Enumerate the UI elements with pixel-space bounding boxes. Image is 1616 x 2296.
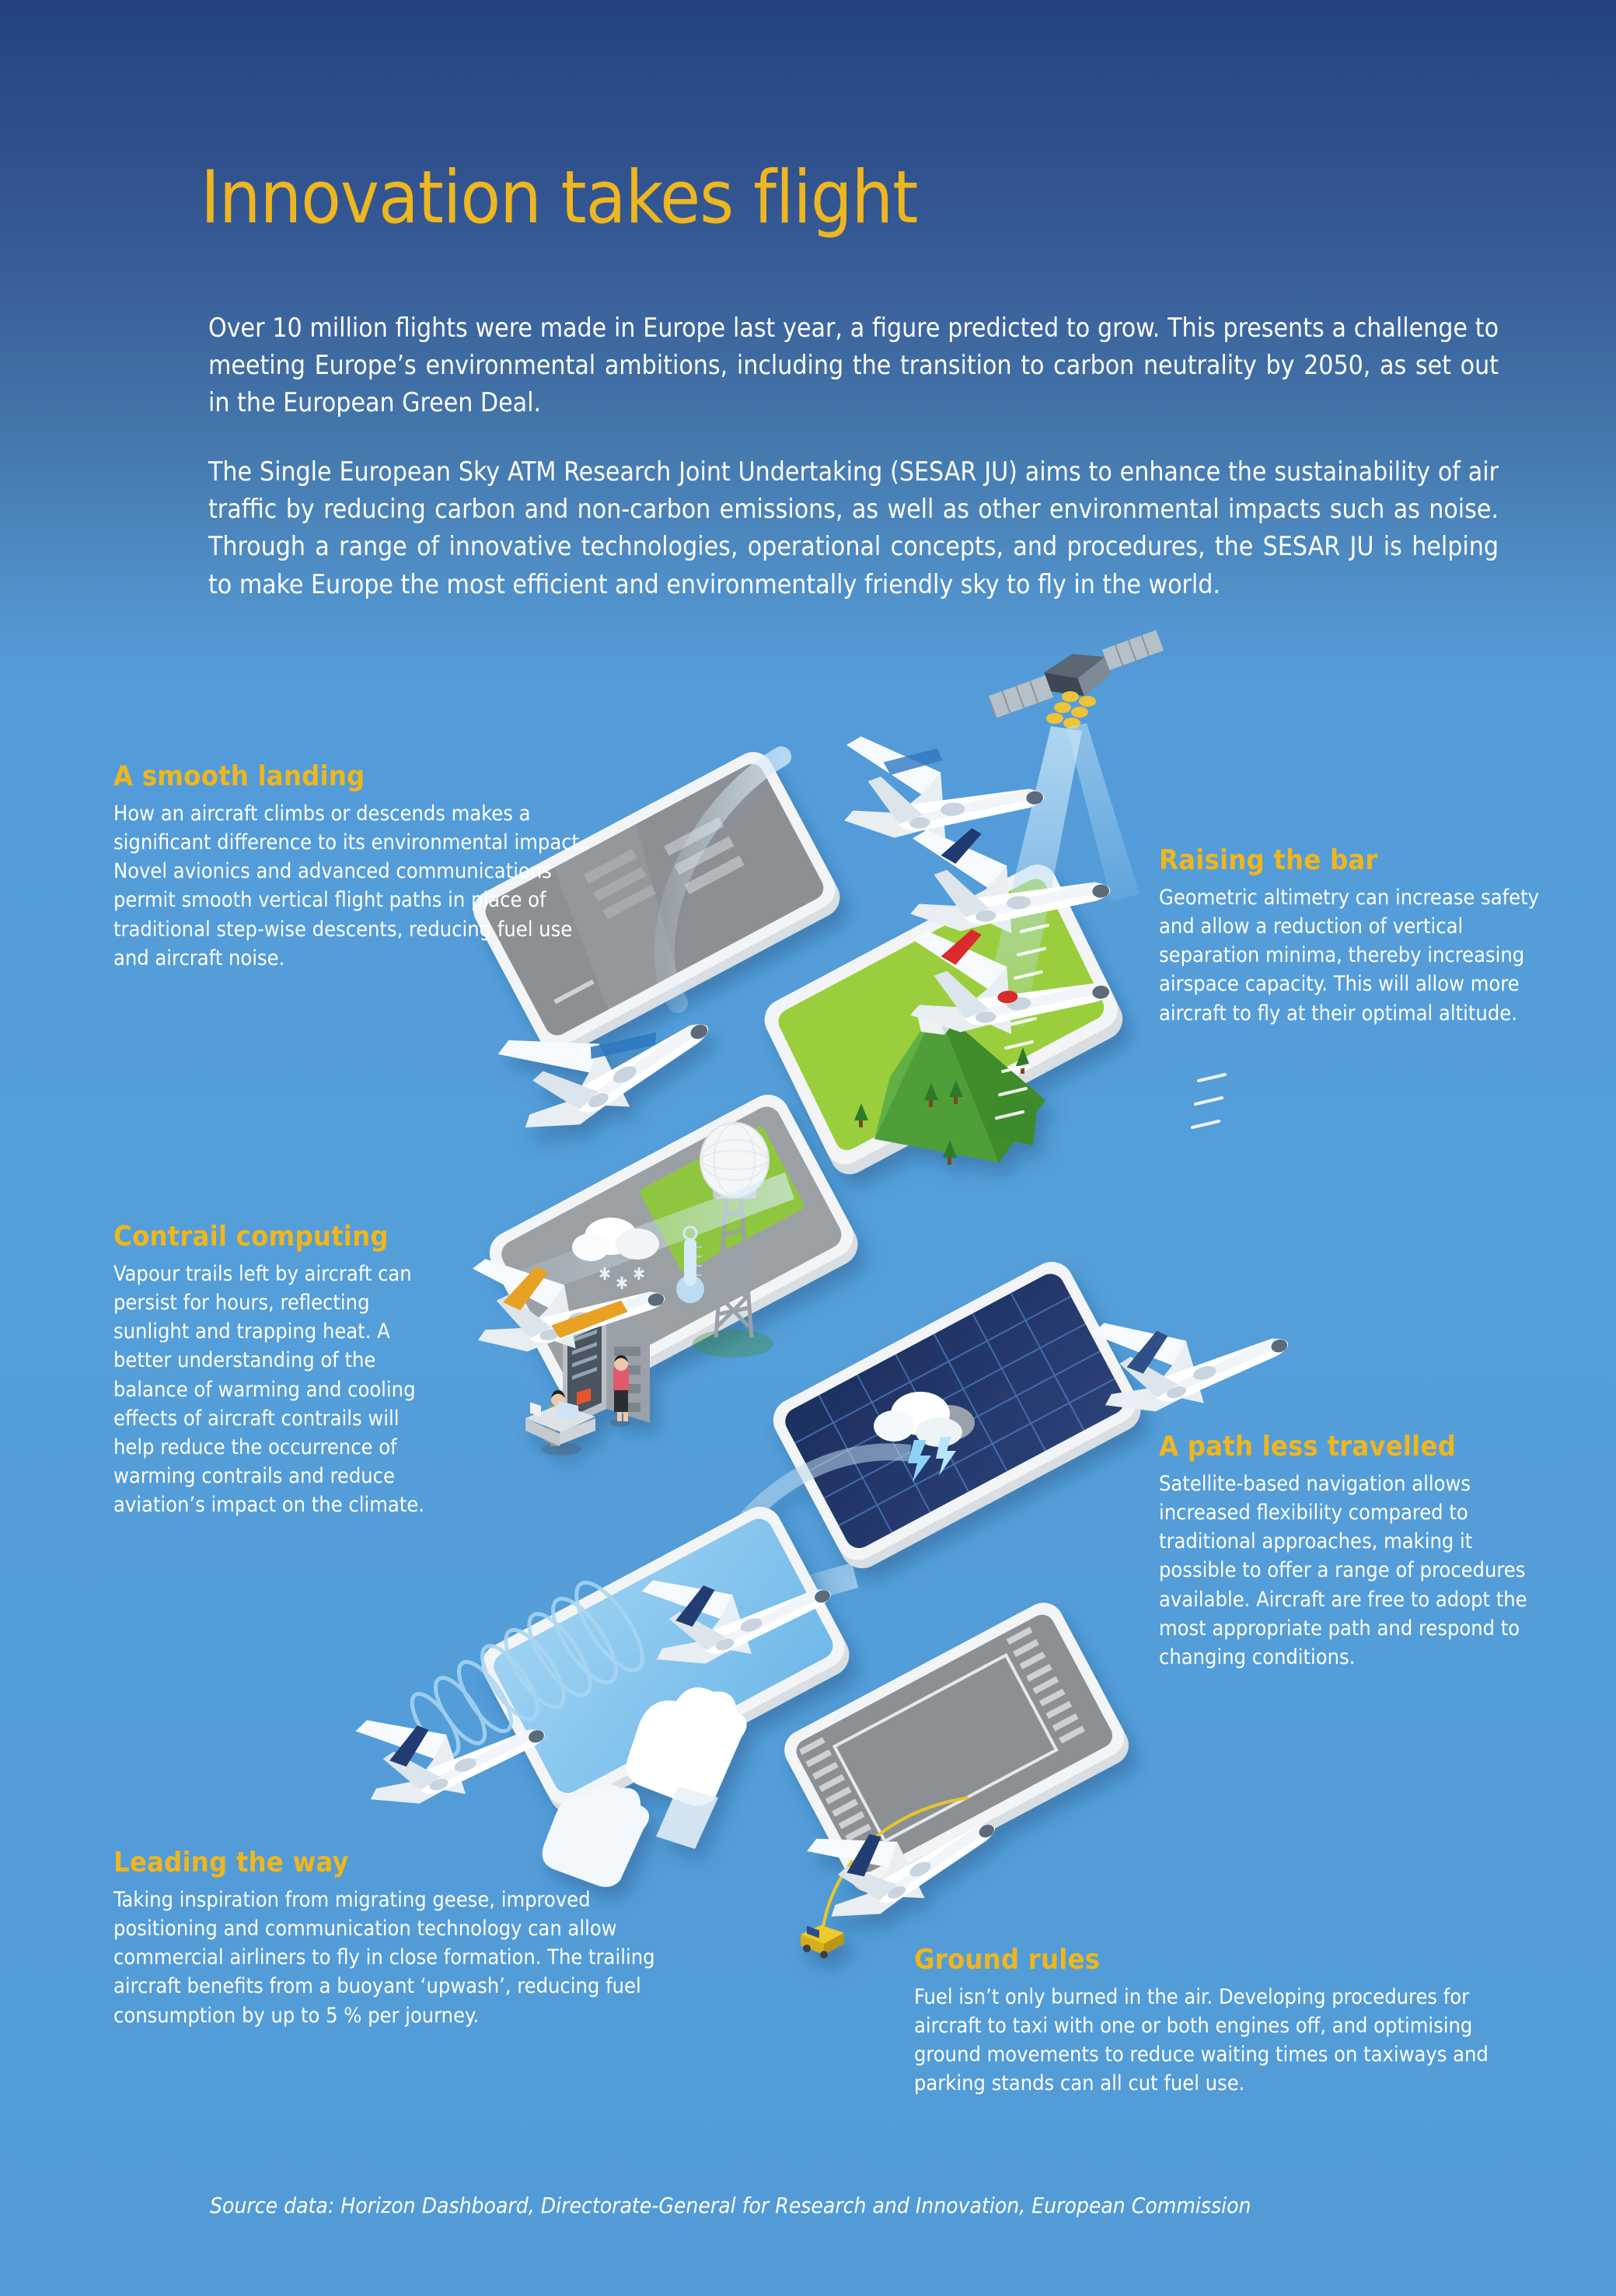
airplane-icon-red xyxy=(905,918,1113,1041)
route-beam xyxy=(785,1563,858,1606)
section-heading-raising-the-bar: Raising the bar xyxy=(1159,844,1548,876)
section-body-raising-the-bar: Geometric altimetry can increase safety … xyxy=(1159,883,1548,1028)
data-centre-platform xyxy=(482,1087,865,1456)
satellite-beam xyxy=(981,726,1082,1028)
source-note: Source data: Horizon Dashboard, Director… xyxy=(210,2193,1251,2218)
flexible-route-path xyxy=(719,1452,910,1559)
airplane-icon-path-less xyxy=(1084,1276,1297,1429)
intro-paragraph-1: Over 10 million flights were made in Eur… xyxy=(208,309,1499,422)
solar-panel-platform xyxy=(719,1254,1148,1576)
airplane-icon-blue xyxy=(839,724,1047,847)
contrail-beam xyxy=(522,1172,794,1297)
smooth-flight-path xyxy=(665,757,781,1003)
intro-paragraph-2: The Single European Sky ATM Research Joi… xyxy=(208,453,1499,603)
page-title: Innovation takes flight xyxy=(201,162,917,235)
vortex-spiral-icon xyxy=(403,1573,654,1762)
apron-platform xyxy=(777,1595,1136,1959)
section-raising-the-bar: Raising the bar Geometric altimetry can … xyxy=(1159,844,1548,1028)
section-body-contrail-computing: Vapour trails left by aircraft can persi… xyxy=(113,1260,440,1519)
technician-standing xyxy=(610,1355,630,1427)
satellite-dish-array xyxy=(1046,691,1096,729)
tow-tug-icon xyxy=(801,1925,844,1959)
section-heading-smooth-landing: A smooth landing xyxy=(113,760,611,792)
section-body-smooth-landing: How an aircraft climbs or descends makes… xyxy=(113,799,611,973)
thermometer-icon xyxy=(676,1227,704,1303)
section-ground-rules: Ground rules Fuel isn’t only burned in t… xyxy=(914,1944,1528,2099)
weather-radar-tower xyxy=(693,1123,773,1358)
operator-seated xyxy=(525,1388,595,1456)
satellite-icon xyxy=(985,624,1169,729)
section-a-path-less-travelled: A path less travelled Satellite-based na… xyxy=(1159,1431,1528,1672)
section-contrail-computing: Contrail computing Vapour trails left by… xyxy=(113,1221,440,1519)
section-body-a-path-less-travelled: Satellite-based navigation allows increa… xyxy=(1159,1470,1528,1672)
section-smooth-landing: A smooth landing How an aircraft climbs … xyxy=(113,760,611,973)
infographic-page: Innovation takes flight Over 10 million … xyxy=(0,0,1616,2296)
mountain-platform xyxy=(758,858,1129,1182)
section-heading-a-path-less-travelled: A path less travelled xyxy=(1159,1431,1528,1463)
airplane-icon-lead xyxy=(633,1529,840,1683)
satellite-beam-2 xyxy=(1066,723,1140,902)
snow-cloud-icon xyxy=(572,1218,659,1289)
section-heading-ground-rules: Ground rules xyxy=(914,1944,1528,1976)
section-heading-contrail-computing: Contrail computing xyxy=(113,1221,440,1253)
cloud-platform xyxy=(474,1499,857,1887)
taxi-guideline xyxy=(821,1798,969,1953)
airplane-icon-gold xyxy=(464,1229,671,1365)
section-body-leading-the-way: Taking inspiration from migrating geese,… xyxy=(113,1885,658,2030)
section-body-ground-rules: Fuel isn’t only burned in the air. Devel… xyxy=(914,1983,1528,2099)
storm-cloud-icon xyxy=(874,1392,975,1482)
airplane-icon-navy xyxy=(905,817,1113,940)
airplane-icon-trail xyxy=(347,1669,554,1822)
section-leading-the-way: Leading the way Taking inspiration from … xyxy=(113,1847,658,2030)
section-heading-leading-the-way: Leading the way xyxy=(113,1847,658,1878)
